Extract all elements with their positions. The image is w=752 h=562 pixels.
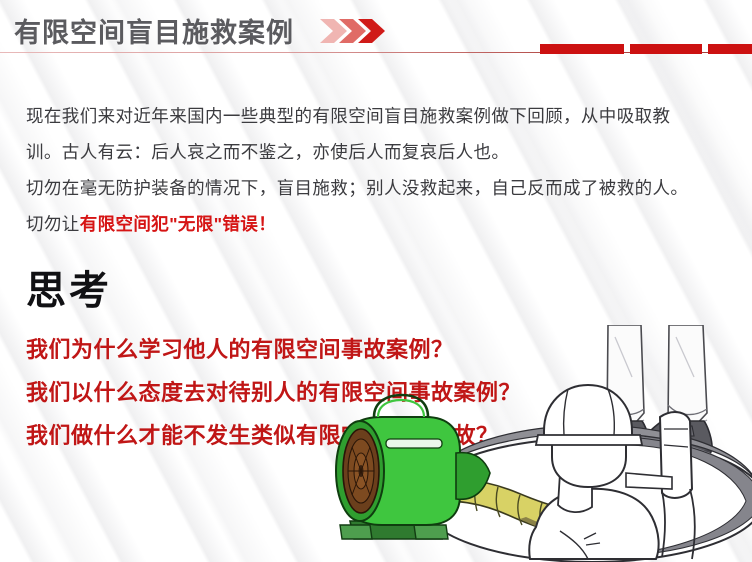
header-accent-bar-2 bbox=[630, 44, 702, 54]
body-line-4-prefix: 切勿让 bbox=[26, 214, 80, 234]
slide-header: 有限空间盲目施救案例 bbox=[0, 0, 752, 60]
header-accent-bar-3 bbox=[708, 44, 752, 54]
question-item-1: 我们为什么学习他人的有限空间事故案例？ bbox=[26, 328, 666, 371]
section-heading-think: 思考 bbox=[26, 258, 112, 316]
body-paragraphs: 现在我们来对近年来国内一些典型的有限空间盲目施救案例做下回顾，从中吸取教 训。古… bbox=[26, 98, 726, 242]
body-line-4: 切勿让有限空间犯"无限"错误！ bbox=[26, 206, 726, 242]
question-item-2: 我们以什么态度去对待别人的有限空间事故案例？ bbox=[26, 371, 666, 414]
background-diagonal-texture-secondary bbox=[0, 0, 752, 562]
question-item-3: 我们做什么才能不发生类似有限空间伤亡事故？ bbox=[26, 414, 666, 457]
background-diagonal-texture bbox=[0, 0, 752, 562]
page-title: 有限空间盲目施救案例 bbox=[14, 11, 294, 50]
body-line-2: 训。古人有云：后人哀之而不鉴之，亦使后人而复哀后人也。 bbox=[26, 134, 726, 170]
body-line-1: 现在我们来对近年来国内一些典型的有限空间盲目施救案例做下回顾，从中吸取教 bbox=[26, 98, 726, 134]
double-chevron-right-icon bbox=[318, 17, 390, 45]
flexible-duct-icon bbox=[402, 477, 624, 543]
body-line-3: 切勿在毫无防护装备的情况下，盲目施救；别人没救起来，自己反而成了被救的人。 bbox=[26, 170, 726, 206]
question-list: 我们为什么学习他人的有限空间事故案例？ 我们以什么态度去对待别人的有限空间事故案… bbox=[26, 328, 666, 457]
body-line-4-highlight: 有限空间犯"无限"错误！ bbox=[80, 214, 276, 234]
header-accent-bar-1 bbox=[540, 44, 624, 54]
slide-canvas: 有限空间盲目施救案例 现在我们来对近年来国内一些典型的有限空间盲目施救案例做下回… bbox=[0, 0, 752, 562]
